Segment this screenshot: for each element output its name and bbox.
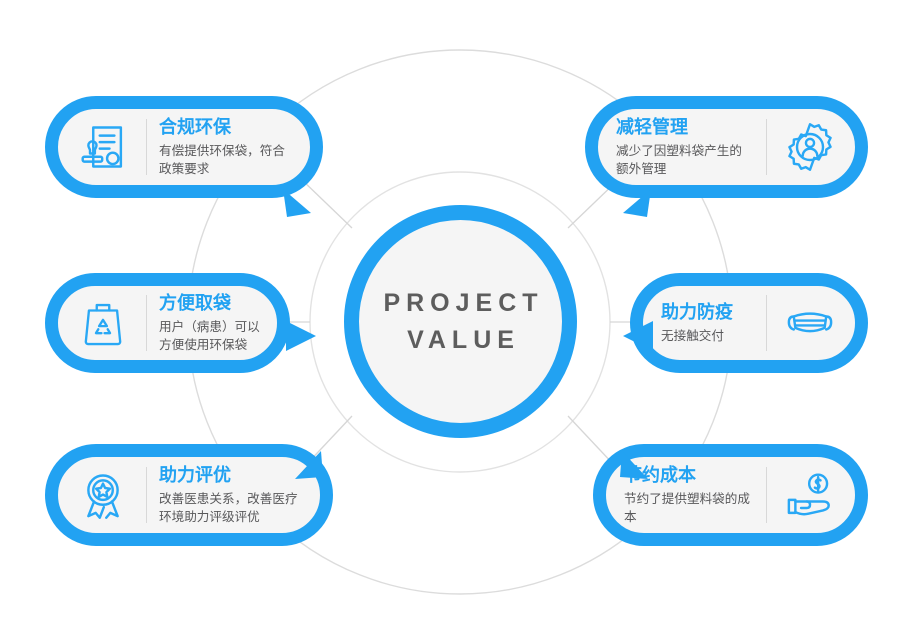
card-title: 助力防疫 xyxy=(661,301,754,324)
medal-star-icon xyxy=(72,464,134,526)
card-title: 方便取袋 xyxy=(159,292,263,315)
face-mask-icon xyxy=(779,292,841,354)
card-description: 有偿提供环保袋，符合政策要求 xyxy=(159,142,296,179)
card-text: 减轻管理 减少了因塑料袋产生的额外管理 xyxy=(612,116,754,178)
card-cost[interactable]: 节约成本 节约了提供塑料袋的成本 xyxy=(593,444,868,546)
connector-top-left xyxy=(300,178,352,228)
card-manage[interactable]: 减轻管理 减少了因塑料袋产生的额外管理 xyxy=(585,96,868,198)
card-bag[interactable]: 方便取袋 用户（病患）可以方便使用环保袋 xyxy=(45,273,290,373)
card-divider xyxy=(146,295,147,351)
document-stamp-icon xyxy=(72,116,134,178)
card-divider xyxy=(766,295,767,351)
card-compliance[interactable]: 合规环保 有偿提供环保袋，符合政策要求 xyxy=(45,96,323,198)
card-title: 助力评优 xyxy=(159,464,306,487)
card-divider xyxy=(146,119,147,175)
card-epidemic[interactable]: 助力防疫 无接触交付 xyxy=(630,273,868,373)
card-description: 改善医患关系，改善医疗环境助力评级评优 xyxy=(159,490,306,527)
hand-money-icon xyxy=(779,464,841,526)
card-description: 用户（病患）可以方便使用环保袋 xyxy=(159,318,263,355)
card-text: 助力防疫 无接触交付 xyxy=(657,301,754,345)
recycle-bag-icon xyxy=(72,292,134,354)
card-description: 减少了因塑料袋产生的额外管理 xyxy=(616,142,754,179)
card-description: 节约了提供塑料袋的成本 xyxy=(624,490,754,527)
center-hub: PROJECT VALUE xyxy=(344,205,577,438)
card-text: 节约成本 节约了提供塑料袋的成本 xyxy=(620,464,754,526)
card-divider xyxy=(766,119,767,175)
card-text: 合规环保 有偿提供环保袋，符合政策要求 xyxy=(159,116,296,178)
gear-person-icon xyxy=(779,116,841,178)
hub-title-line1: PROJECT xyxy=(377,285,543,321)
hub-title-line2: VALUE xyxy=(401,322,520,358)
infographic-canvas: PROJECT VALUE 合规环保 有偿提供环保袋，符合政策要求 xyxy=(0,0,913,634)
card-title: 合规环保 xyxy=(159,116,296,139)
card-description: 无接触交付 xyxy=(661,327,754,345)
card-divider xyxy=(766,467,767,523)
card-text: 助力评优 改善医患关系，改善医疗环境助力评级评优 xyxy=(159,464,306,526)
card-rating[interactable]: 助力评优 改善医患关系，改善医疗环境助力评级评优 xyxy=(45,444,333,546)
card-title: 减轻管理 xyxy=(616,116,754,139)
card-text: 方便取袋 用户（病患）可以方便使用环保袋 xyxy=(159,292,263,354)
card-title: 节约成本 xyxy=(624,464,754,487)
card-divider xyxy=(146,467,147,523)
